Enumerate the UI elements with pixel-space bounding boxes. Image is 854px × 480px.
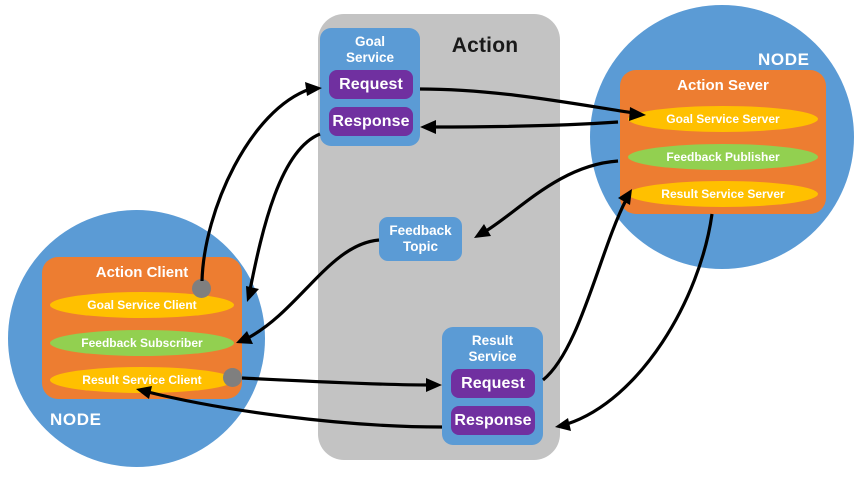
result-service-title-line2: Service [468, 349, 516, 364]
goal-service-connector-dot [192, 279, 211, 298]
result-service-title: Result Service [442, 333, 543, 365]
action-client-title: Action Client [42, 264, 242, 281]
diagram-canvas: Action NODE NODE Action Sever Goal Servi… [0, 0, 854, 480]
result-service-response: Response [451, 406, 535, 435]
goal-service-title: Goal Service [320, 34, 420, 66]
result-service-connector-dot [223, 368, 242, 387]
goal-service-request: Request [329, 70, 413, 99]
goal-service-title-line2: Service [346, 50, 394, 65]
feedback-topic-line2: Topic [403, 239, 438, 255]
action-server-panel: Action Sever Goal Service Server Feedbac… [620, 70, 826, 214]
result-service-server: Result Service Server [628, 181, 818, 207]
result-service-title-line1: Result [472, 333, 513, 348]
client-node-label: NODE [50, 410, 102, 430]
goal-service-response: Response [329, 107, 413, 136]
action-client-panel: Action Client Goal Service Client Feedba… [42, 257, 242, 399]
goal-service-server: Goal Service Server [628, 106, 818, 132]
result-service-box: Result Service Request Response [442, 327, 543, 445]
goal-service-box: Goal Service Request Response [320, 28, 420, 146]
feedback-topic-line1: Feedback [389, 223, 451, 239]
feedback-subscriber: Feedback Subscriber [50, 330, 234, 356]
action-server-title: Action Sever [620, 77, 826, 94]
arrow-goal-response-to-client [246, 134, 320, 302]
result-service-client: Result Service Client [50, 367, 234, 393]
server-node-label: NODE [758, 50, 810, 70]
feedback-publisher: Feedback Publisher [628, 144, 818, 170]
action-title: Action [420, 34, 550, 58]
result-service-request: Request [451, 369, 535, 398]
feedback-topic-box: Feedback Topic [379, 217, 462, 261]
goal-service-title-line1: Goal [355, 34, 385, 49]
